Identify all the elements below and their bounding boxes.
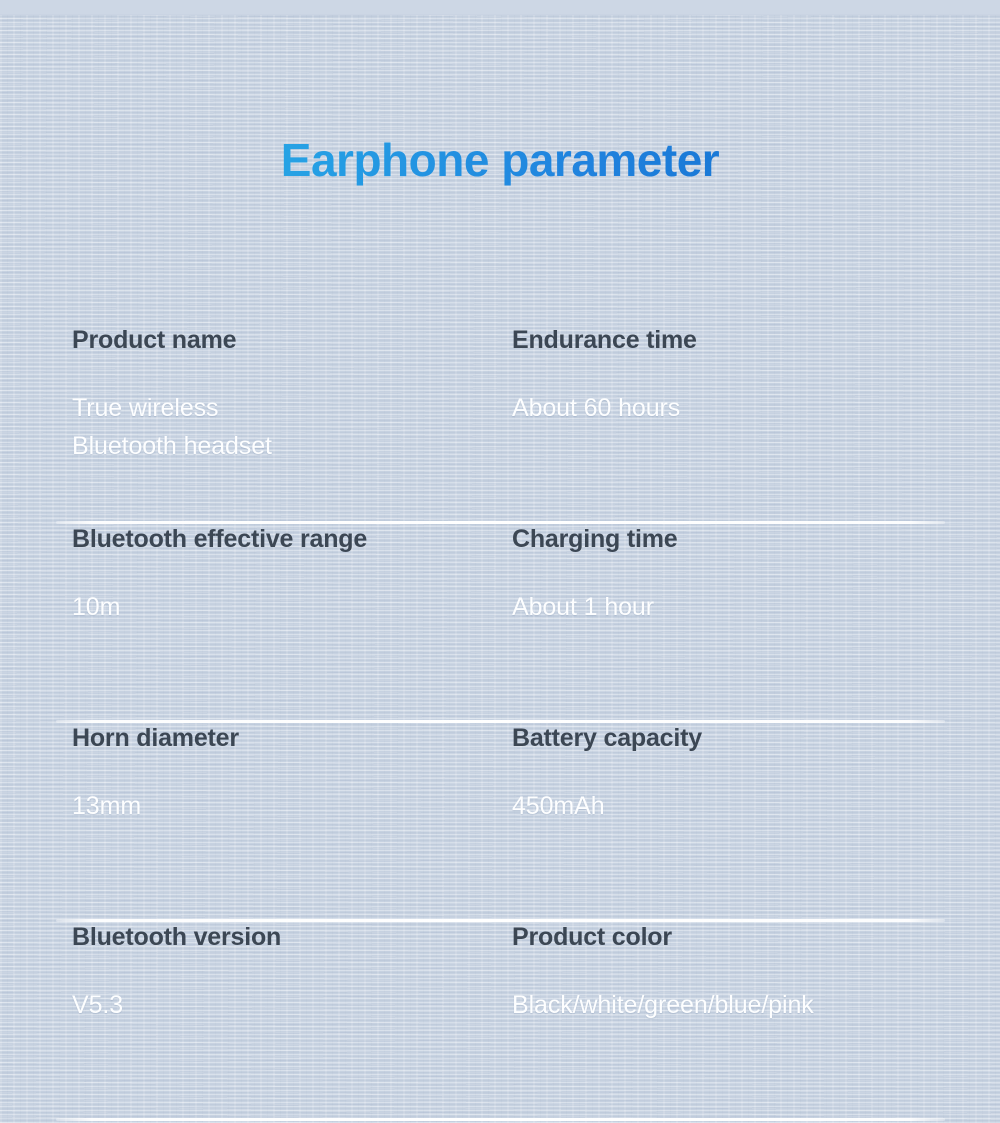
- spec-value-line: Bluetooth headset: [72, 427, 512, 465]
- spec-label: Horn diameter: [72, 723, 512, 753]
- spec-value-line: About 1 hour: [512, 588, 972, 626]
- spec-value: Black/white/green/blue/pink: [512, 986, 972, 1024]
- spec-value: About 1 hour: [512, 588, 972, 626]
- spec-cell-battery-capacity: Battery capacity 450mAh: [512, 723, 972, 825]
- spec-value-line: V5.3: [72, 986, 512, 1024]
- spec-value: 13mm: [72, 787, 512, 825]
- spec-cell-horn-diameter: Horn diameter 13mm: [72, 723, 512, 825]
- spec-cell-product-name: Product name True wireless Bluetooth hea…: [72, 325, 512, 465]
- spec-value-line: 450mAh: [512, 787, 972, 825]
- page-title: Earphone parameter: [0, 133, 1000, 187]
- spec-value-line: Black/white/green/blue/pink: [512, 986, 972, 1024]
- spec-row: Bluetooth effective range 10m Charging t…: [0, 524, 1000, 723]
- spec-value-line: 10m: [72, 588, 512, 626]
- spec-value: 450mAh: [512, 787, 972, 825]
- spec-label: Product color: [512, 922, 972, 952]
- spec-label: Battery capacity: [512, 723, 972, 753]
- spec-value: V5.3: [72, 986, 512, 1024]
- spec-value-line: 13mm: [72, 787, 512, 825]
- spec-cell-bluetooth-effective-range: Bluetooth effective range 10m: [72, 524, 512, 626]
- specification-table: Product name True wireless Bluetooth hea…: [0, 325, 1000, 1121]
- spec-value-line: True wireless: [72, 389, 512, 427]
- spec-label: Endurance time: [512, 325, 972, 355]
- spec-cell-bluetooth-version: Bluetooth version V5.3: [72, 922, 512, 1024]
- spec-label: Charging time: [512, 524, 972, 554]
- spec-value: About 60 hours: [512, 389, 972, 427]
- spec-value-line: About 60 hours: [512, 389, 972, 427]
- spec-cell-product-color: Product color Black/white/green/blue/pin…: [512, 922, 972, 1024]
- spec-value: True wireless Bluetooth headset: [72, 389, 512, 465]
- spec-label: Bluetooth version: [72, 922, 512, 952]
- spec-label: Product name: [72, 325, 512, 355]
- spec-cell-charging-time: Charging time About 1 hour: [512, 524, 972, 626]
- spec-row: Product name True wireless Bluetooth hea…: [0, 325, 1000, 524]
- spec-value: 10m: [72, 588, 512, 626]
- content-root: Earphone parameter Product name True wir…: [0, 0, 1000, 1123]
- spec-row: Bluetooth version V5.3 Product color Bla…: [0, 922, 1000, 1121]
- spec-cell-endurance-time: Endurance time About 60 hours: [512, 325, 972, 465]
- row-divider: [56, 1118, 945, 1121]
- spec-label: Bluetooth effective range: [72, 524, 512, 554]
- spec-row: Horn diameter 13mm Battery capacity 450m…: [0, 723, 1000, 922]
